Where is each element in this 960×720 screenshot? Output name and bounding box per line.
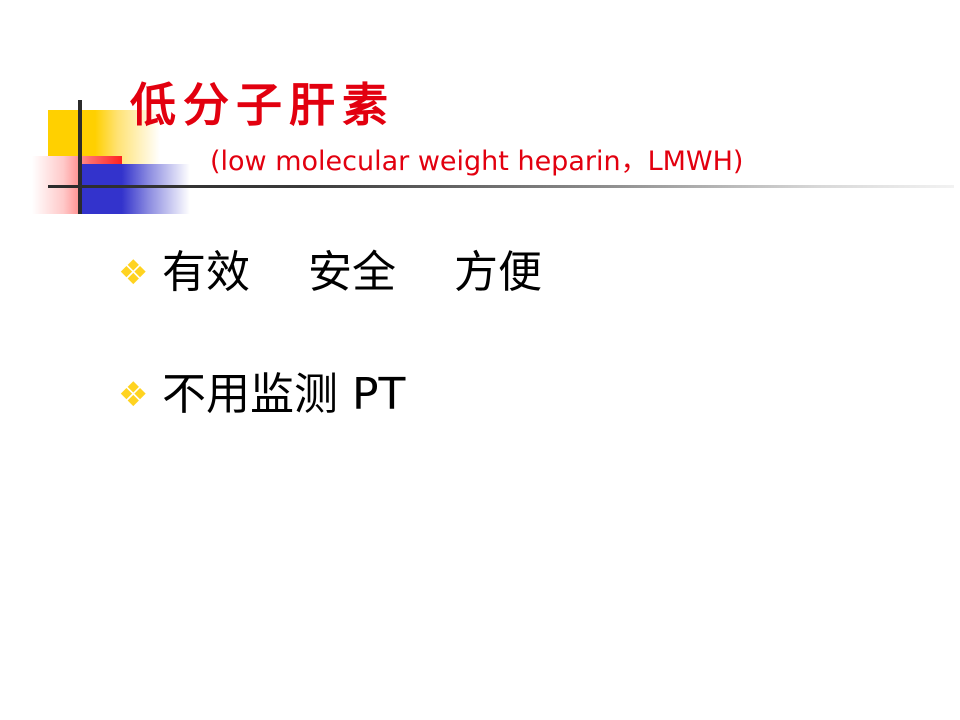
bullet-item-label: 不用监测 PT — [162, 366, 918, 424]
logo-blue-square — [80, 164, 190, 214]
logo-vertical-rule — [78, 100, 82, 214]
bullet-item: ❖ 不用监测 PT — [118, 366, 918, 424]
diamond-bullet-icon: ❖ — [118, 366, 162, 424]
header-divider-rule — [48, 185, 954, 188]
slide-subtitle: (low molecular weight heparin，LMWH) — [210, 148, 743, 175]
bullet-item-label: 有效 安全 方便 — [162, 244, 918, 302]
diamond-bullet-icon: ❖ — [118, 244, 162, 302]
bullet-list: ❖ 有效 安全 方便 ❖ 不用监测 PT — [118, 244, 918, 488]
slide-title: 低分子肝素 — [130, 82, 395, 128]
bullet-item: ❖ 有效 安全 方便 — [118, 244, 918, 302]
slide-canvas: 低分子肝素 (low molecular weight heparin，LMWH… — [0, 0, 960, 720]
